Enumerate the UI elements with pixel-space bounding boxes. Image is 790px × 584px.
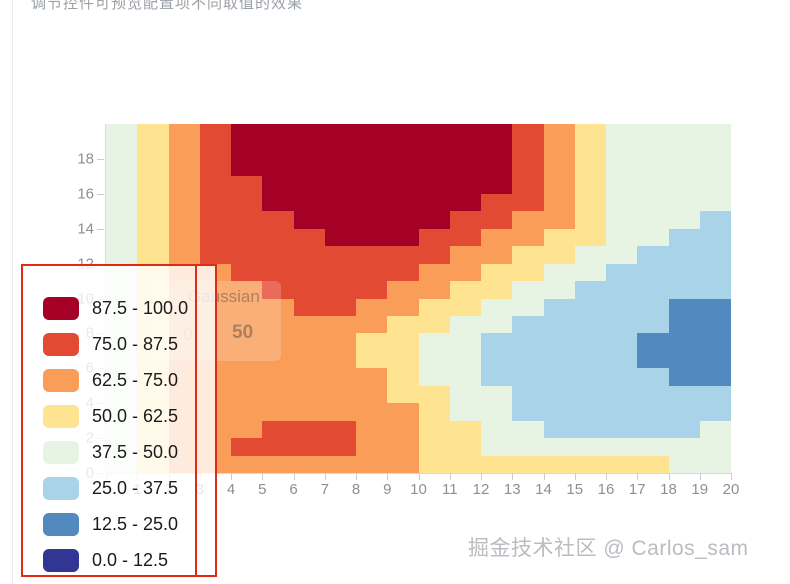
x-axis-tick-mark <box>606 473 607 480</box>
heatmap-cell <box>606 176 637 193</box>
heatmap-cell <box>575 281 606 298</box>
legend-color-swatch <box>43 513 79 536</box>
heatmap-cell <box>575 351 606 368</box>
heatmap-cell <box>606 438 637 455</box>
x-axis-tick-label: 6 <box>289 481 297 498</box>
heatmap-cell <box>544 386 575 403</box>
heatmap-cell <box>669 368 700 385</box>
heatmap-cell <box>481 333 512 350</box>
heatmap-cell <box>450 456 481 473</box>
heatmap-cell <box>637 299 668 316</box>
heatmap-cell <box>450 124 481 141</box>
heatmap-cell <box>544 211 575 228</box>
heatmap-cell <box>294 281 325 298</box>
heatmap-cell <box>544 333 575 350</box>
heatmap-cell <box>637 141 668 158</box>
heatmap-cell <box>294 368 325 385</box>
heatmap-cell <box>325 229 356 246</box>
heatmap-cell <box>262 403 293 420</box>
heatmap-cell <box>450 403 481 420</box>
heatmap-cell <box>356 176 387 193</box>
heatmap-cell <box>262 264 293 281</box>
heatmap-cell <box>481 456 512 473</box>
heatmap-cell <box>325 403 356 420</box>
heatmap-cell <box>700 299 731 316</box>
heatmap-cell <box>231 229 262 246</box>
legend-item[interactable]: 25.0 - 37.5 <box>43 470 188 506</box>
heatmap-cell <box>606 229 637 246</box>
heatmap-cell <box>606 299 637 316</box>
heatmap-cell <box>481 211 512 228</box>
legend-item-label: 87.5 - 100.0 <box>92 298 188 319</box>
heatmap-cell <box>262 124 293 141</box>
heatmap-cell <box>356 281 387 298</box>
heatmap-cell <box>700 124 731 141</box>
x-axis-tick-mark <box>387 473 388 480</box>
heatmap-cell <box>325 264 356 281</box>
heatmap-cell <box>231 421 262 438</box>
heatmap-cell <box>700 403 731 420</box>
heatmap-cell <box>575 333 606 350</box>
heatmap-cell <box>419 264 450 281</box>
heatmap-cell <box>606 211 637 228</box>
heatmap-cell <box>231 333 262 350</box>
heatmap-cell <box>700 141 731 158</box>
heatmap-cell <box>387 333 418 350</box>
heatmap-cell <box>169 229 200 246</box>
x-axis-tick-mark <box>700 473 701 480</box>
heatmap-cell <box>294 438 325 455</box>
y-axis-tick-label: 14 <box>77 220 94 237</box>
heatmap-cell <box>419 159 450 176</box>
heatmap-cell <box>169 124 200 141</box>
heatmap-cell <box>575 438 606 455</box>
legend-color-swatch <box>43 549 79 572</box>
heatmap-cell <box>387 211 418 228</box>
legend-item[interactable]: 62.5 - 75.0 <box>43 362 188 398</box>
heatmap-cell <box>669 246 700 263</box>
heatmap-cell <box>669 264 700 281</box>
heatmap-cell <box>169 176 200 193</box>
heatmap-cell <box>669 438 700 455</box>
heatmap-cell <box>231 351 262 368</box>
heatmap-cell <box>606 368 637 385</box>
x-axis-tick-mark <box>481 473 482 480</box>
heatmap-cell <box>512 194 543 211</box>
heatmap-cell <box>387 421 418 438</box>
heatmap-cell <box>325 211 356 228</box>
legend: 87.5 - 100.075.0 - 87.562.5 - 75.050.0 -… <box>43 290 188 578</box>
x-axis-tick-label: 13 <box>504 481 521 498</box>
heatmap-cell <box>700 351 731 368</box>
heatmap-cell <box>700 316 731 333</box>
heatmap-cell <box>544 316 575 333</box>
heatmap-cell <box>419 438 450 455</box>
heatmap-cell <box>544 141 575 158</box>
x-axis-tick-mark <box>637 473 638 480</box>
heatmap-cell <box>669 194 700 211</box>
heatmap-cell <box>137 124 168 141</box>
heatmap-cell <box>356 299 387 316</box>
y-axis-tick-label: 16 <box>77 185 94 202</box>
heatmap-cell <box>481 299 512 316</box>
heatmap-cell <box>419 124 450 141</box>
legend-item-label: 25.0 - 37.5 <box>92 478 178 499</box>
heatmap-cell <box>262 176 293 193</box>
heatmap-cell <box>294 264 325 281</box>
legend-item[interactable]: 0.0 - 12.5 <box>43 542 188 578</box>
heatmap-cell <box>700 264 731 281</box>
heatmap-cell <box>387 368 418 385</box>
heatmap-cell <box>262 299 293 316</box>
heatmap-cell <box>325 299 356 316</box>
heatmap-cell <box>325 141 356 158</box>
heatmap-cell <box>262 246 293 263</box>
heatmap-cell <box>575 421 606 438</box>
heatmap-cell <box>544 456 575 473</box>
heatmap-cell <box>294 246 325 263</box>
x-axis-tick-label: 10 <box>410 481 427 498</box>
heatmap-cell <box>231 159 262 176</box>
legend-item[interactable]: 87.5 - 100.0 <box>43 290 188 326</box>
x-axis-tick-label: 18 <box>660 481 677 498</box>
heatmap-cell <box>356 124 387 141</box>
heatmap-cell <box>700 438 731 455</box>
heatmap-cell <box>669 211 700 228</box>
x-axis-tick-label: 16 <box>598 481 615 498</box>
heatmap-cell <box>700 368 731 385</box>
legend-color-swatch <box>43 405 79 428</box>
heatmap-cell <box>262 316 293 333</box>
red-marker-line <box>195 264 197 577</box>
legend-item-label: 37.5 - 50.0 <box>92 442 178 463</box>
heatmap-cell <box>387 124 418 141</box>
heatmap-cell <box>575 124 606 141</box>
heatmap-cell <box>137 159 168 176</box>
heatmap-cell <box>356 421 387 438</box>
heatmap-cell <box>481 386 512 403</box>
heatmap-cell <box>262 386 293 403</box>
heatmap-cell <box>637 351 668 368</box>
heatmap-cell <box>106 124 137 141</box>
heatmap-cell <box>512 403 543 420</box>
x-axis-tick-mark <box>669 473 670 480</box>
y-axis-tick-mark <box>97 159 104 160</box>
heatmap-cell <box>700 281 731 298</box>
x-axis-tick-label: 11 <box>442 481 458 498</box>
heatmap-cell <box>512 264 543 281</box>
heatmap-cell <box>387 316 418 333</box>
legend-color-swatch <box>43 297 79 320</box>
heatmap-cell <box>356 333 387 350</box>
legend-color-swatch <box>43 441 79 464</box>
heatmap-cell <box>637 176 668 193</box>
heatmap-cell <box>106 141 137 158</box>
heatmap-cell <box>669 456 700 473</box>
heatmap-cell <box>262 229 293 246</box>
heatmap-cell <box>231 176 262 193</box>
heatmap-cell <box>356 246 387 263</box>
heatmap-cell <box>325 438 356 455</box>
heatmap-cell <box>294 421 325 438</box>
heatmap-cell <box>700 159 731 176</box>
heatmap-cell <box>512 351 543 368</box>
heatmap-cell <box>606 141 637 158</box>
heatmap-cell <box>325 281 356 298</box>
heatmap-cell <box>231 386 262 403</box>
heatmap-cell <box>294 333 325 350</box>
heatmap-cell <box>669 124 700 141</box>
heatmap-cell <box>669 351 700 368</box>
heatmap-cell <box>262 438 293 455</box>
x-axis-tick-label: 14 <box>535 481 552 498</box>
heatmap-cell <box>606 194 637 211</box>
heatmap-cell <box>481 141 512 158</box>
heatmap-cell <box>325 368 356 385</box>
y-axis-tick-mark <box>97 229 104 230</box>
heatmap-cell <box>262 456 293 473</box>
heatmap-cell <box>575 159 606 176</box>
heatmap-cell <box>325 351 356 368</box>
heatmap-cell <box>294 316 325 333</box>
heatmap-cell <box>106 246 137 263</box>
heatmap-cell <box>231 264 262 281</box>
legend-item-label: 50.0 - 62.5 <box>92 406 178 427</box>
heatmap-cell <box>356 264 387 281</box>
heatmap-cell <box>637 211 668 228</box>
heatmap-cell <box>512 333 543 350</box>
x-axis-tick-mark <box>575 473 576 480</box>
heatmap-cell <box>294 141 325 158</box>
heatmap-cell <box>544 159 575 176</box>
heatmap-cell <box>200 229 231 246</box>
heatmap-cell <box>669 386 700 403</box>
x-axis-tick-label: 15 <box>566 481 583 498</box>
heatmap-cell <box>637 159 668 176</box>
heatmap-cell <box>387 386 418 403</box>
heatmap-cell <box>700 456 731 473</box>
heatmap-cell <box>450 176 481 193</box>
heatmap-cell <box>575 211 606 228</box>
heatmap-cell <box>481 351 512 368</box>
legend-item[interactable]: 37.5 - 50.0 <box>43 434 188 470</box>
heatmap-cell <box>606 421 637 438</box>
heatmap-cell <box>575 246 606 263</box>
heatmap-cell <box>544 421 575 438</box>
heatmap-cell <box>450 368 481 385</box>
heatmap-cell <box>606 403 637 420</box>
heatmap-cell <box>294 456 325 473</box>
heatmap-cell <box>106 159 137 176</box>
heatmap-cell <box>575 229 606 246</box>
heatmap-cell <box>450 264 481 281</box>
legend-item[interactable]: 50.0 - 62.5 <box>43 398 188 434</box>
heatmap-cell <box>387 229 418 246</box>
heatmap-cell <box>419 299 450 316</box>
legend-item[interactable]: 75.0 - 87.5 <box>43 326 188 362</box>
x-axis-tick-mark <box>231 473 232 480</box>
heatmap-cell <box>231 211 262 228</box>
x-axis-tick-label: 19 <box>691 481 708 498</box>
heatmap-cell <box>200 141 231 158</box>
heatmap-cell <box>544 176 575 193</box>
heatmap-cell <box>137 246 168 263</box>
heatmap-cell <box>262 421 293 438</box>
legend-item-label: 62.5 - 75.0 <box>92 370 178 391</box>
x-axis-tick-mark <box>356 473 357 480</box>
heatmap-cell <box>481 264 512 281</box>
heatmap-cell <box>606 124 637 141</box>
heatmap-cell <box>481 316 512 333</box>
heatmap-cell <box>387 456 418 473</box>
heatmap-cell <box>387 194 418 211</box>
heatmap-cell <box>606 316 637 333</box>
heatmap-cell <box>106 211 137 228</box>
heatmap-cell <box>325 333 356 350</box>
x-axis-tick-label: 5 <box>258 481 266 498</box>
heatmap-cell <box>512 386 543 403</box>
heatmap-cell <box>606 351 637 368</box>
heatmap-cell <box>544 229 575 246</box>
heatmap-cell <box>387 281 418 298</box>
heatmap-cell <box>700 194 731 211</box>
x-axis-tick-mark <box>325 473 326 480</box>
heatmap-cell <box>106 229 137 246</box>
heatmap-cell <box>419 351 450 368</box>
heatmap-cell <box>356 351 387 368</box>
heatmap-cell <box>637 229 668 246</box>
heatmap-cell <box>481 403 512 420</box>
heatmap-cell <box>356 316 387 333</box>
heatmap-cell <box>262 281 293 298</box>
heatmap-cell <box>637 246 668 263</box>
heatmap-cell <box>700 246 731 263</box>
heatmap-cell <box>575 176 606 193</box>
heatmap-cell <box>450 246 481 263</box>
header-caption: 调节控件可预览配置项不同取值的效果 <box>31 0 303 13</box>
heatmap-cell <box>231 124 262 141</box>
heatmap-cell <box>356 403 387 420</box>
heatmap-cell <box>700 421 731 438</box>
heatmap-cell <box>450 316 481 333</box>
heatmap-cell <box>325 159 356 176</box>
x-axis-tick-mark <box>731 473 732 480</box>
heatmap-cell <box>419 403 450 420</box>
heatmap-cell <box>450 299 481 316</box>
heatmap-cell <box>419 316 450 333</box>
legend-item[interactable]: 12.5 - 25.0 <box>43 506 188 542</box>
heatmap-cell <box>606 159 637 176</box>
heatmap-cell <box>700 176 731 193</box>
heatmap-cell <box>481 194 512 211</box>
x-axis-tick-mark <box>450 473 451 480</box>
heatmap-cell <box>200 124 231 141</box>
heatmap-cell <box>262 368 293 385</box>
heatmap-cell <box>419 211 450 228</box>
heatmap-cell <box>231 316 262 333</box>
heatmap-cell <box>231 141 262 158</box>
heatmap-cell <box>575 403 606 420</box>
heatmap-cell <box>481 421 512 438</box>
heatmap-cell <box>481 281 512 298</box>
heatmap-cell <box>325 246 356 263</box>
heatmap-cell <box>450 281 481 298</box>
x-axis-tick-label: 4 <box>227 481 235 498</box>
heatmap-cell <box>637 124 668 141</box>
heatmap-cell <box>669 281 700 298</box>
heatmap-cell <box>606 264 637 281</box>
heatmap-cell <box>294 176 325 193</box>
legend-item-label: 12.5 - 25.0 <box>92 514 178 535</box>
heatmap-cell <box>356 159 387 176</box>
heatmap-cell <box>512 368 543 385</box>
heatmap-cell <box>137 141 168 158</box>
heatmap-cell <box>137 194 168 211</box>
heatmap-cell <box>512 246 543 263</box>
heatmap-cell <box>231 438 262 455</box>
heatmap-cell <box>137 211 168 228</box>
heatmap-cell <box>356 194 387 211</box>
heatmap-cell <box>262 333 293 350</box>
heatmap-cell <box>325 124 356 141</box>
heatmap-cell <box>200 211 231 228</box>
heatmap-cell <box>262 141 293 158</box>
heatmap-cell <box>481 229 512 246</box>
heatmap-cell <box>544 368 575 385</box>
heatmap-cell <box>106 176 137 193</box>
heatmap-cell <box>294 386 325 403</box>
legend-highlight-box: 87.5 - 100.075.0 - 87.562.5 - 75.050.0 -… <box>21 264 217 577</box>
heatmap-cell <box>450 438 481 455</box>
heatmap-cell <box>294 229 325 246</box>
heatmap-cell <box>262 194 293 211</box>
x-axis-tick-mark <box>512 473 513 480</box>
heatmap-cell <box>137 176 168 193</box>
heatmap-cell <box>450 386 481 403</box>
heatmap-cell <box>387 176 418 193</box>
heatmap-cell <box>512 421 543 438</box>
heatmap-cell <box>294 403 325 420</box>
heatmap-cell <box>512 141 543 158</box>
legend-color-swatch <box>43 369 79 392</box>
legend-color-swatch <box>43 333 79 356</box>
heatmap-cell <box>606 246 637 263</box>
heatmap-cell <box>637 403 668 420</box>
y-axis-tick-label: 18 <box>77 150 94 167</box>
heatmap-cell <box>512 438 543 455</box>
x-axis-tick-label: 9 <box>383 481 391 498</box>
heatmap-cell <box>544 351 575 368</box>
heatmap-cell <box>294 211 325 228</box>
heatmap-cell <box>700 333 731 350</box>
heatmap-cell <box>262 351 293 368</box>
heatmap-cell <box>325 176 356 193</box>
heatmap-cell <box>419 421 450 438</box>
heatmap-cell <box>544 438 575 455</box>
heatmap-cell <box>387 438 418 455</box>
y-axis-tick-mark <box>97 194 104 195</box>
heatmap-cell <box>200 246 231 263</box>
heatmap-cell <box>481 176 512 193</box>
heatmap-cell <box>512 176 543 193</box>
heatmap-cell <box>325 194 356 211</box>
heatmap-cell <box>387 246 418 263</box>
heatmap-cell <box>544 264 575 281</box>
heatmap-cell <box>419 176 450 193</box>
heatmap-cell <box>481 159 512 176</box>
heatmap-cell <box>575 141 606 158</box>
legend-item-label: 75.0 - 87.5 <box>92 334 178 355</box>
